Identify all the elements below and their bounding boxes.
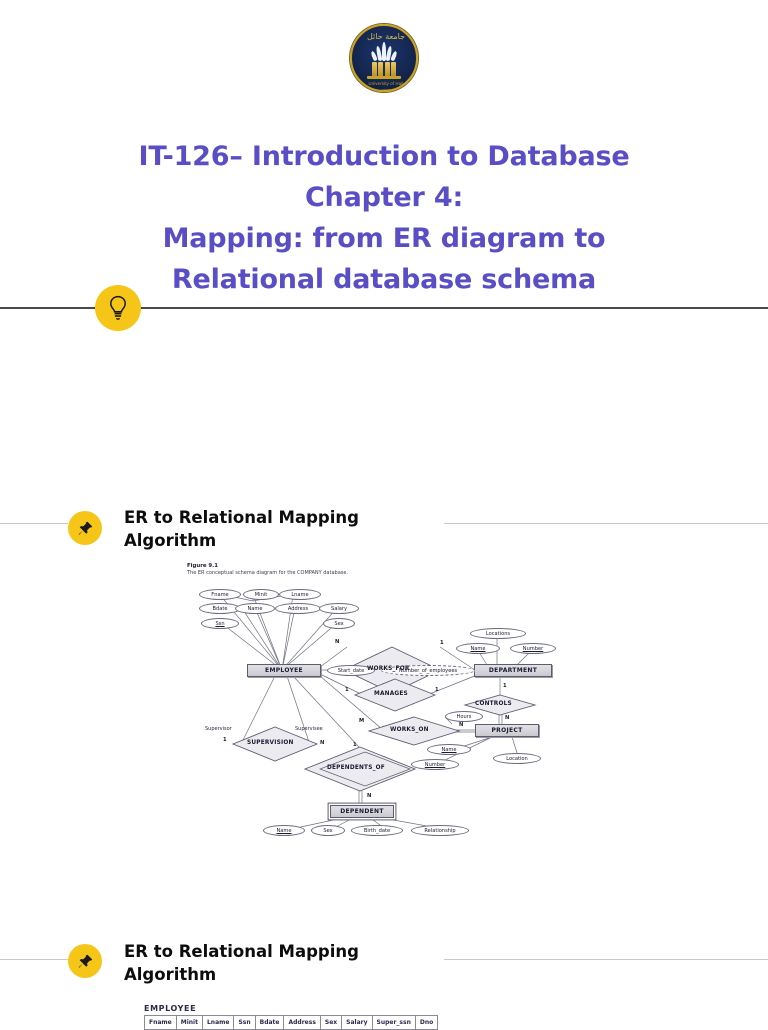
table-col-sex: Sex	[320, 1016, 341, 1030]
books-icon	[370, 62, 398, 77]
section-heading-1-line-1: ER to Relational Mapping	[124, 506, 436, 529]
attr-birth-date: Birth_date	[351, 825, 403, 836]
table-col-address: Address	[284, 1016, 320, 1030]
er-diagram-figure: Figure 9.1 The ER conceptual schema diag…	[187, 563, 587, 853]
university-crest-logo: جامعة حائل University of Hail 2005	[347, 12, 421, 98]
table-col-minit: Minit	[176, 1016, 202, 1030]
attr-name-department: Name	[456, 643, 500, 654]
attr-number-project: Number	[411, 759, 459, 770]
entity-employee: EMPLOYEE	[247, 664, 321, 677]
card-supervision-n: N	[320, 740, 324, 746]
crest-base	[367, 76, 401, 79]
table-col-dno: Dno	[415, 1016, 437, 1030]
title-slide: جامعة حائل University of Hail 2005 IT-12…	[0, 0, 768, 310]
relational-schema-table: EMPLOYEE Fname Minit Lname Ssn Bdate Add…	[144, 1004, 438, 1030]
attr-lname: Lname	[279, 589, 321, 600]
entity-dependent: DEPENDENT	[330, 805, 394, 818]
title-line-2: Chapter 4:	[0, 177, 768, 218]
section-rule-right-1	[434, 523, 768, 524]
table-col-lname: Lname	[202, 1016, 233, 1030]
card-works-on-n: N	[459, 722, 463, 728]
table-col-bdate: Bdate	[255, 1016, 284, 1030]
figure-number: Figure 9.1	[187, 563, 218, 569]
er-diagram-canvas: Fname Minit Lname Bdate Name Address Sal…	[187, 577, 587, 847]
attr-number-department: Number	[510, 643, 556, 654]
attr-address: Address	[275, 603, 321, 614]
rel-supervision: SUPERVISION	[247, 740, 294, 746]
pushpin-icon	[77, 953, 94, 970]
attr-hours: Hours	[445, 711, 483, 722]
entity-department: DEPARTMENT	[474, 664, 552, 677]
rel-manages: MANAGES	[374, 691, 408, 697]
attr-locations-multivalued: Locations	[470, 628, 526, 639]
attr-name-employee: Name	[235, 603, 275, 614]
section-heading-2: ER to Relational Mapping Algorithm	[124, 940, 444, 986]
attr-ssn-key: Ssn	[201, 618, 239, 629]
crest-arabic-text: جامعة حائل	[352, 32, 420, 41]
card-controls-1: 1	[503, 683, 507, 689]
card-manages-1-left: 1	[345, 687, 349, 693]
attr-name-dependent: Name	[263, 825, 305, 836]
section-rule-left-1	[0, 523, 68, 524]
card-manages-1-right: 1	[435, 687, 439, 693]
title-line-1: IT-126– Introduction to Database	[0, 136, 768, 177]
section-heading-1-line-2: Algorithm	[124, 529, 436, 552]
pushpin-icon	[77, 520, 94, 537]
crest-circle: جامعة حائل University of Hail 2005	[350, 24, 418, 92]
lightbulb-badge	[95, 285, 141, 331]
pushpin-badge-2	[68, 944, 102, 978]
flame-icon	[371, 41, 397, 61]
title-line-3: Mapping: from ER diagram to	[0, 218, 768, 259]
section-heading-2-line-2: Algorithm	[124, 963, 436, 986]
card-dependents-of-n: N	[367, 793, 371, 799]
table-col-super-ssn: Super_ssn	[372, 1016, 415, 1030]
card-works-for-n: N	[335, 639, 339, 645]
attr-name-project: Name	[427, 744, 471, 755]
rel-controls: CONTROLS	[475, 701, 512, 707]
card-works-for-1: 1	[440, 640, 444, 646]
section-rule-right-2	[434, 959, 768, 960]
attr-relationship: Relationship	[411, 825, 469, 836]
entity-project: PROJECT	[475, 724, 539, 737]
section-heading-1: ER to Relational Mapping Algorithm	[124, 506, 444, 552]
employee-relation-table: Fname Minit Lname Ssn Bdate Address Sex …	[144, 1015, 438, 1030]
table-col-salary: Salary	[342, 1016, 372, 1030]
table-col-ssn: Ssn	[234, 1016, 255, 1030]
crest-year-text: 2005	[352, 88, 420, 93]
card-controls-n: N	[505, 715, 509, 721]
attr-minit: Minit	[243, 589, 279, 600]
card-supervision-1: 1	[223, 737, 227, 743]
pushpin-badge-1	[68, 511, 102, 545]
crest-english-text: University of Hail	[352, 81, 420, 86]
section-heading-2-line-1: ER to Relational Mapping	[124, 940, 436, 963]
rel-works-for: WORKS_FOR	[367, 666, 410, 672]
card-dependents-of-1: 1	[353, 742, 357, 748]
lightbulb-icon	[107, 295, 129, 321]
attr-location-project: Location	[493, 753, 541, 764]
role-supervisee: Supervisee	[295, 726, 323, 732]
rel-works-on: WORKS_ON	[390, 727, 429, 733]
figure-caption: The ER conceptual schema diagram for the…	[187, 570, 348, 576]
card-works-on-m: M	[359, 718, 364, 724]
rel-dependents-of: DEPENDENTS_OF	[327, 765, 385, 771]
table-header-row: Fname Minit Lname Ssn Bdate Address Sex …	[145, 1016, 438, 1030]
attr-sex-employee: Sex	[323, 618, 355, 629]
relational-table-title: EMPLOYEE	[144, 1004, 438, 1013]
attr-fname: Fname	[199, 589, 241, 600]
attr-salary: Salary	[319, 603, 359, 614]
role-supervisor: Supervisor	[205, 726, 232, 732]
section-rule-left-2	[0, 959, 68, 960]
page-title: IT-126– Introduction to Database Chapter…	[0, 136, 768, 300]
table-col-fname: Fname	[145, 1016, 177, 1030]
attr-sex-dependent: Sex	[311, 825, 345, 836]
